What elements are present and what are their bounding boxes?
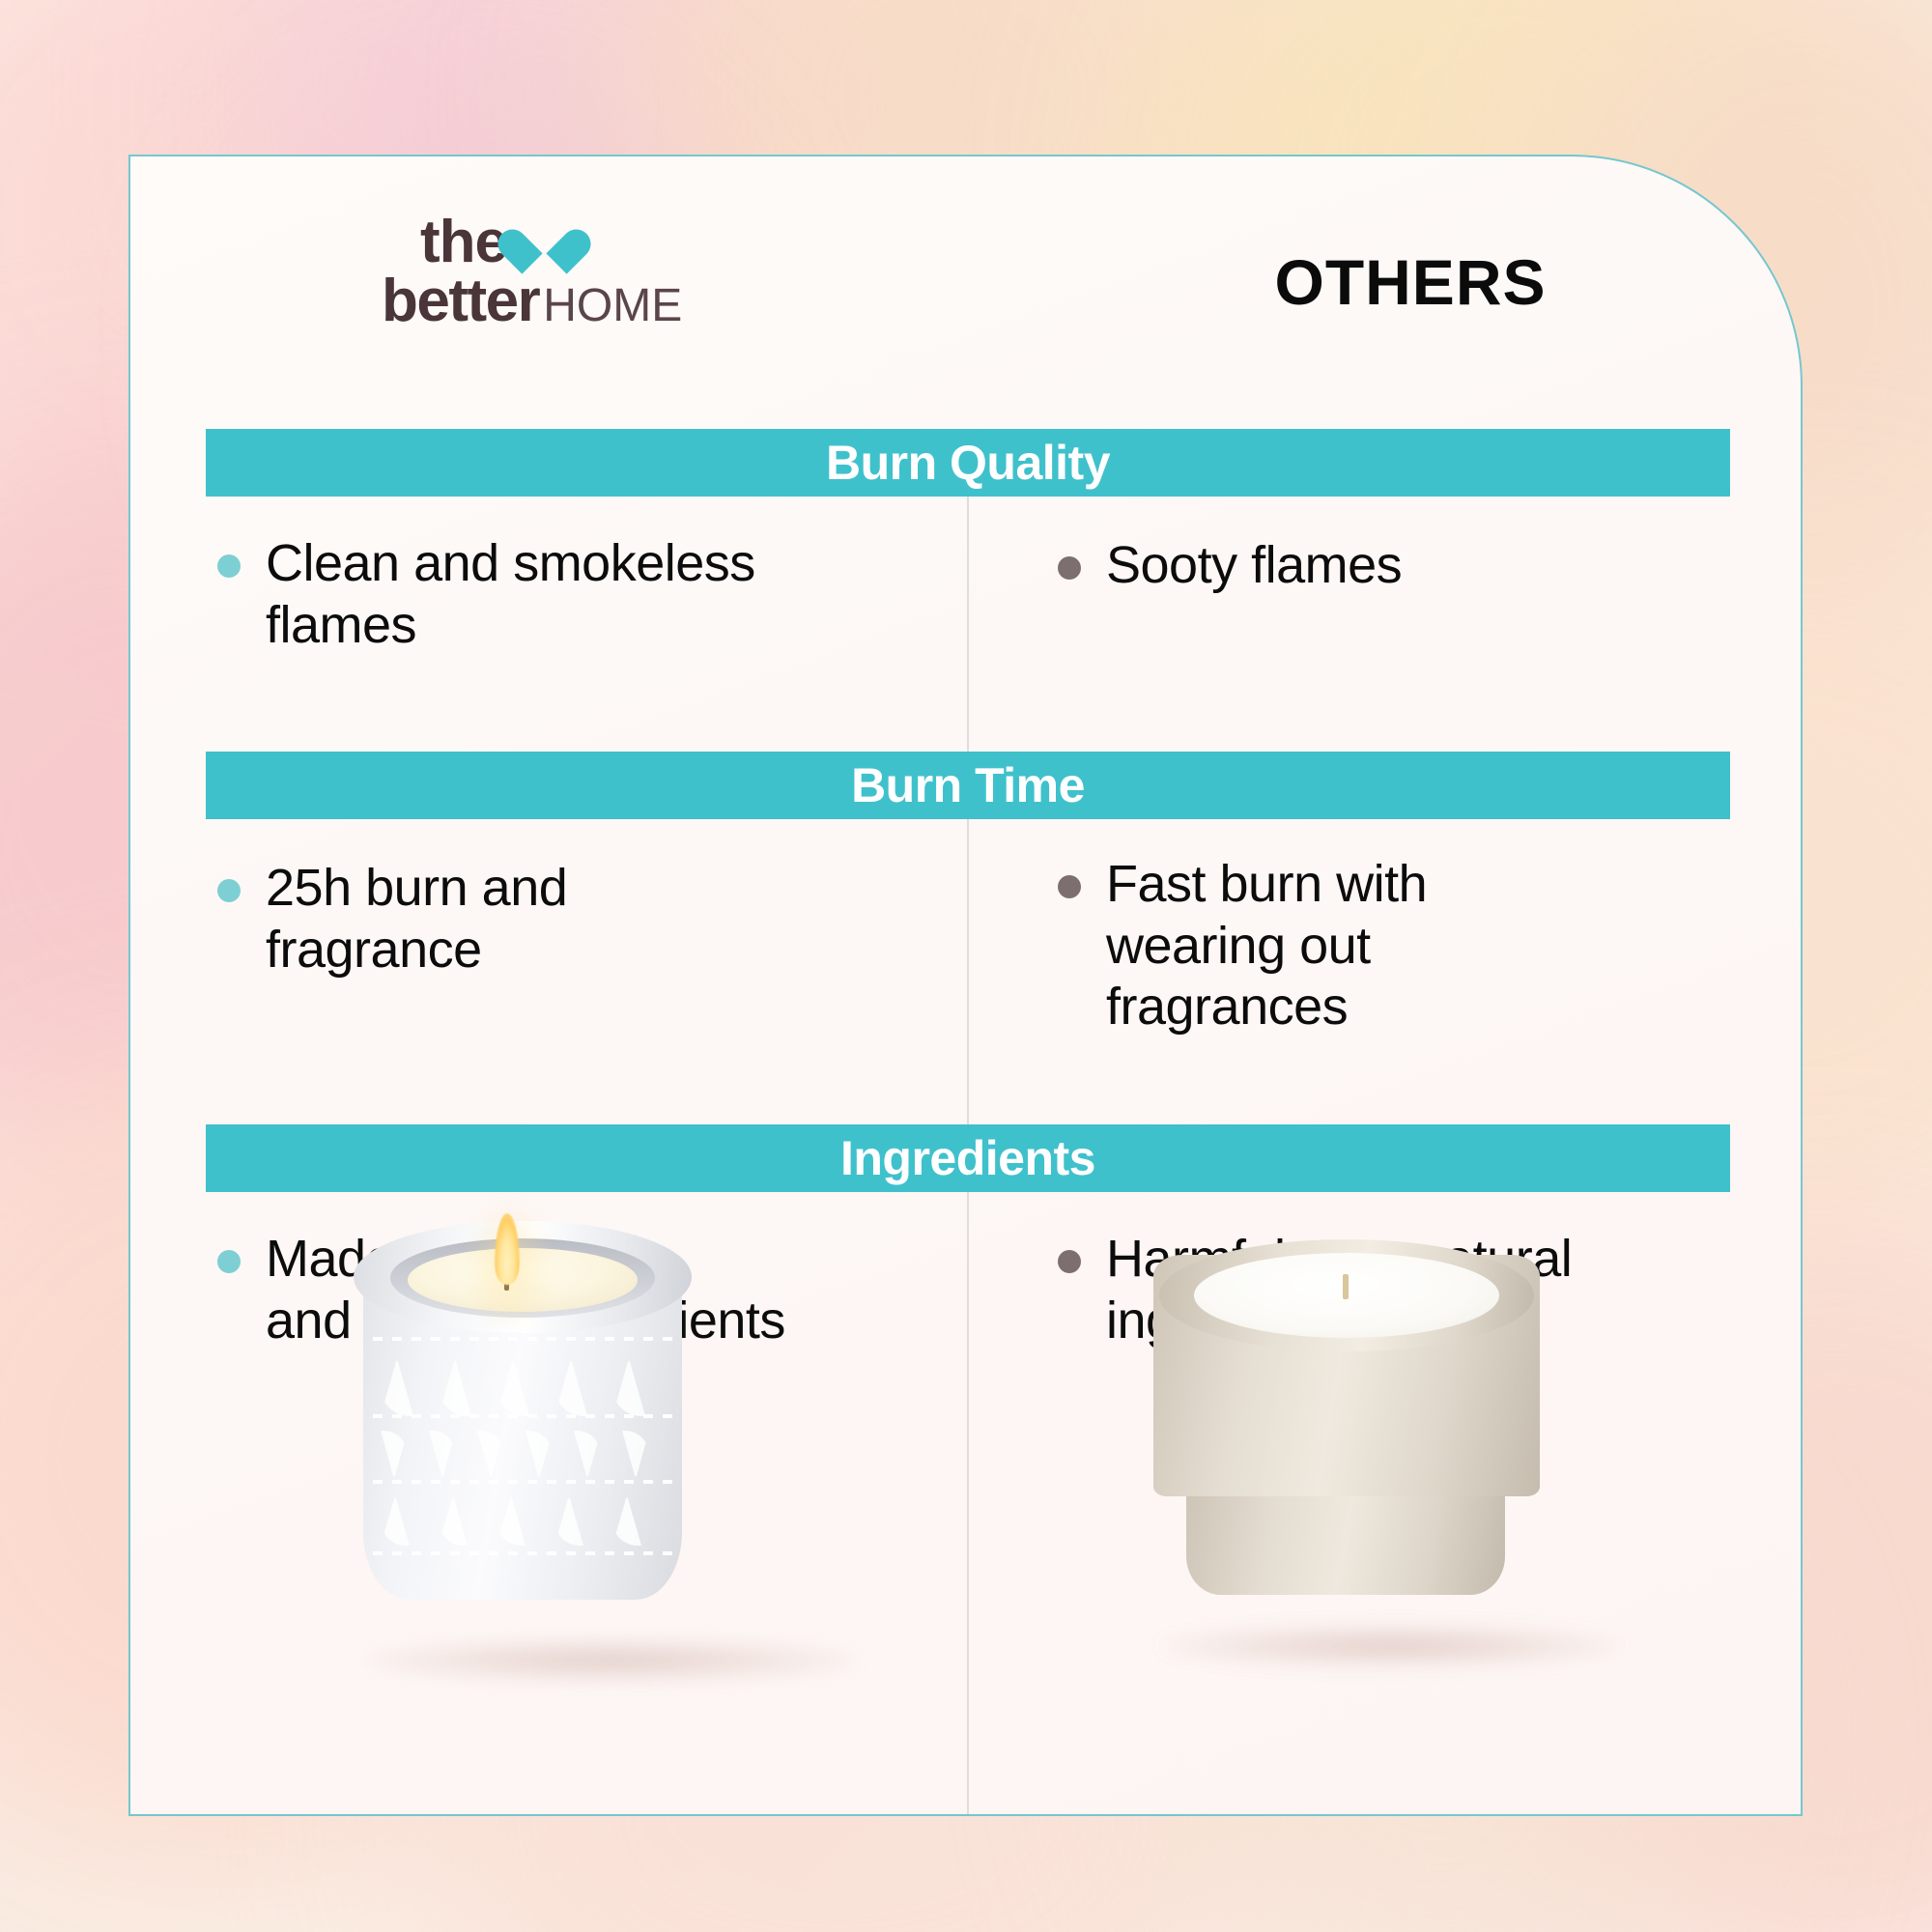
bullet-dot-icon (217, 554, 241, 578)
bullet-dot-icon (1058, 1250, 1081, 1273)
bullet-dot-icon (217, 1250, 241, 1273)
bullet-dot-icon (1058, 556, 1081, 580)
list-item-brand-burn-time: 25h burn and fragrance (217, 858, 952, 980)
list-item-others-burn-quality: Sooty flames (1058, 535, 1734, 597)
bullet-dot-icon (217, 879, 241, 902)
bullet-dot-icon (1058, 875, 1081, 898)
section-title: Burn Time (851, 757, 1085, 813)
list-item-label: 25h burn and fragrance (266, 858, 567, 980)
column-divider (967, 429, 969, 1816)
section-title: Burn Quality (826, 435, 1110, 491)
logo-word-better: better (382, 271, 539, 331)
section-header-burn-quality: Burn Quality (206, 429, 1730, 497)
section-header-burn-time: Burn Time (206, 752, 1730, 819)
column-header-others: OTHERS (1096, 245, 1724, 319)
brand-logo: the better HOME (382, 210, 787, 331)
list-item-label: Sooty flames (1106, 535, 1402, 597)
product-image-brand-candle (319, 1179, 860, 1700)
section-title: Ingredients (840, 1130, 1095, 1186)
heart-icon (517, 215, 573, 266)
logo-word-home: HOME (543, 283, 682, 329)
list-item-others-burn-time: Fast burn with wearing out fragrances (1058, 854, 1734, 1038)
list-item-label: Clean and smokeless flames (266, 533, 755, 656)
list-item-brand-burn-quality: Clean and smokeless flames (217, 533, 952, 656)
list-item-label: Fast burn with wearing out fragrances (1106, 854, 1427, 1038)
card-header: the better HOME OTHERS (130, 156, 1801, 427)
product-image-other-candle (1121, 1203, 1623, 1686)
logo-word-the: the (420, 214, 507, 270)
